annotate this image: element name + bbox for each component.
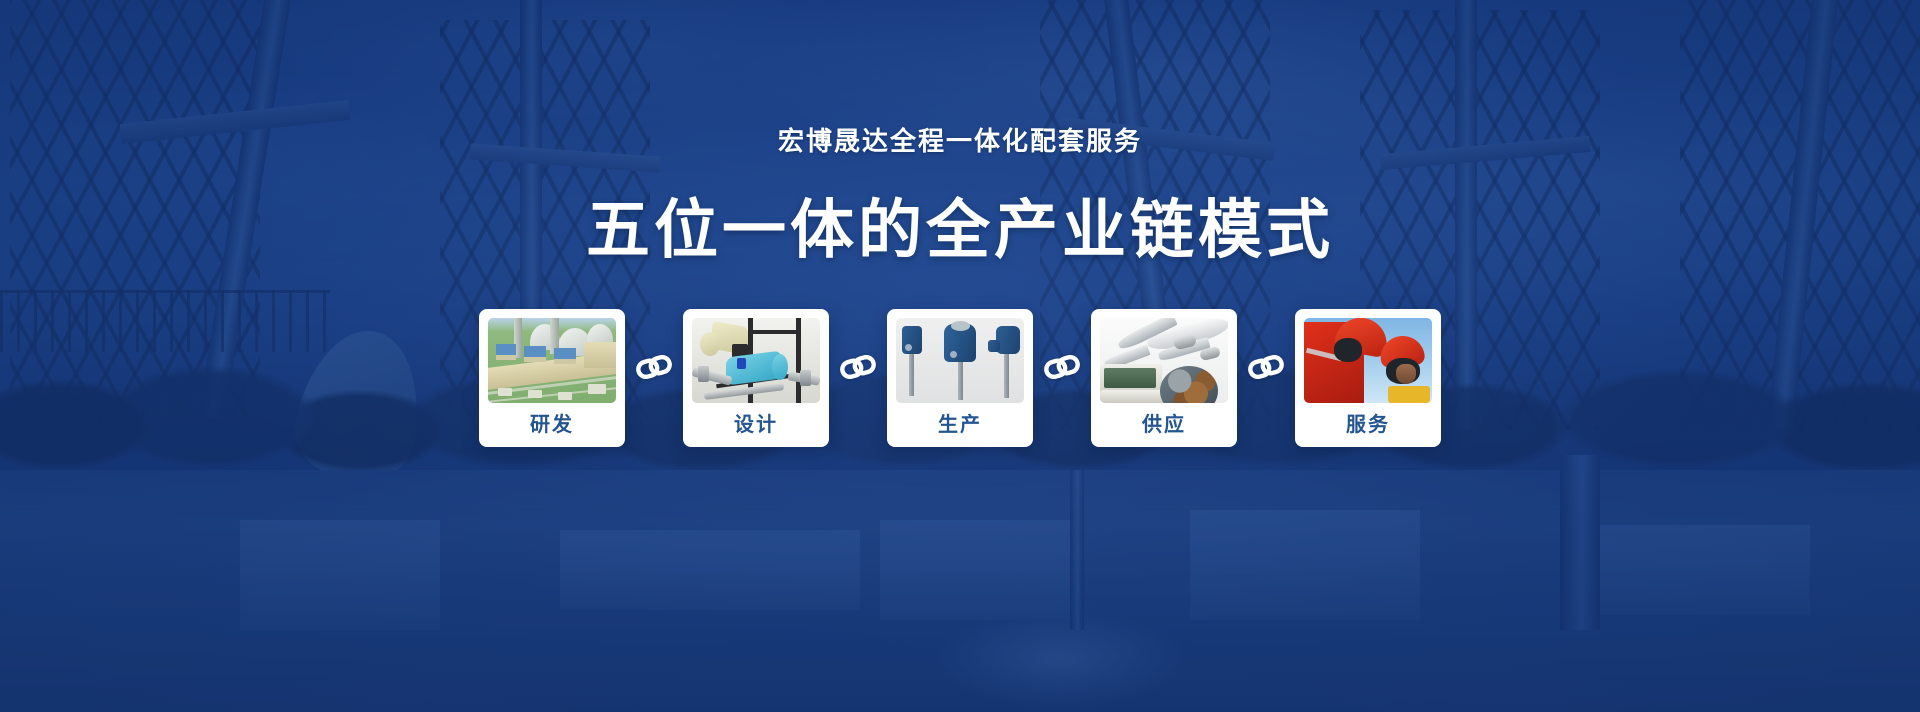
chain-card-label: 研发 [530, 403, 574, 447]
chain-card-thumb-gongying [1100, 318, 1228, 403]
chain-card-label: 生产 [938, 403, 982, 447]
chain-link-icon-2 [829, 355, 887, 379]
banner-subtitle: 宏博晟达全程一体化配套服务 [778, 121, 1142, 158]
banner-headline: 五位一体的全产业链模式 [586, 179, 1334, 271]
chain-card-shengchan[interactable]: 生产 [887, 309, 1033, 447]
chain-card-gongying[interactable]: 供应 [1091, 309, 1237, 447]
chain-card-thumb-yanfa [488, 318, 616, 403]
chain-card-label: 服务 [1346, 403, 1390, 447]
chain-link-icon-4 [1237, 355, 1295, 379]
chain-card-fuwu[interactable]: 服务 [1295, 309, 1441, 447]
chain-card-yanfa[interactable]: 研发 [479, 309, 625, 447]
chain-card-label: 设计 [734, 403, 778, 447]
hero-banner: 宏博晟达全程一体化配套服务 五位一体的全产业链模式 [0, 0, 1920, 712]
banner-content: 宏博晟达全程一体化配套服务 五位一体的全产业链模式 [0, 0, 1920, 712]
chain-card-thumb-shengchan [896, 318, 1024, 403]
value-chain-row: 研发 [479, 309, 1441, 447]
chain-card-thumb-fuwu [1304, 318, 1432, 403]
chain-link-icon-3 [1033, 355, 1091, 379]
chain-link-icon-1 [625, 355, 683, 379]
chain-card-thumb-sheji [692, 318, 820, 403]
chain-card-label: 供应 [1142, 403, 1186, 447]
chain-card-sheji[interactable]: 设计 [683, 309, 829, 447]
